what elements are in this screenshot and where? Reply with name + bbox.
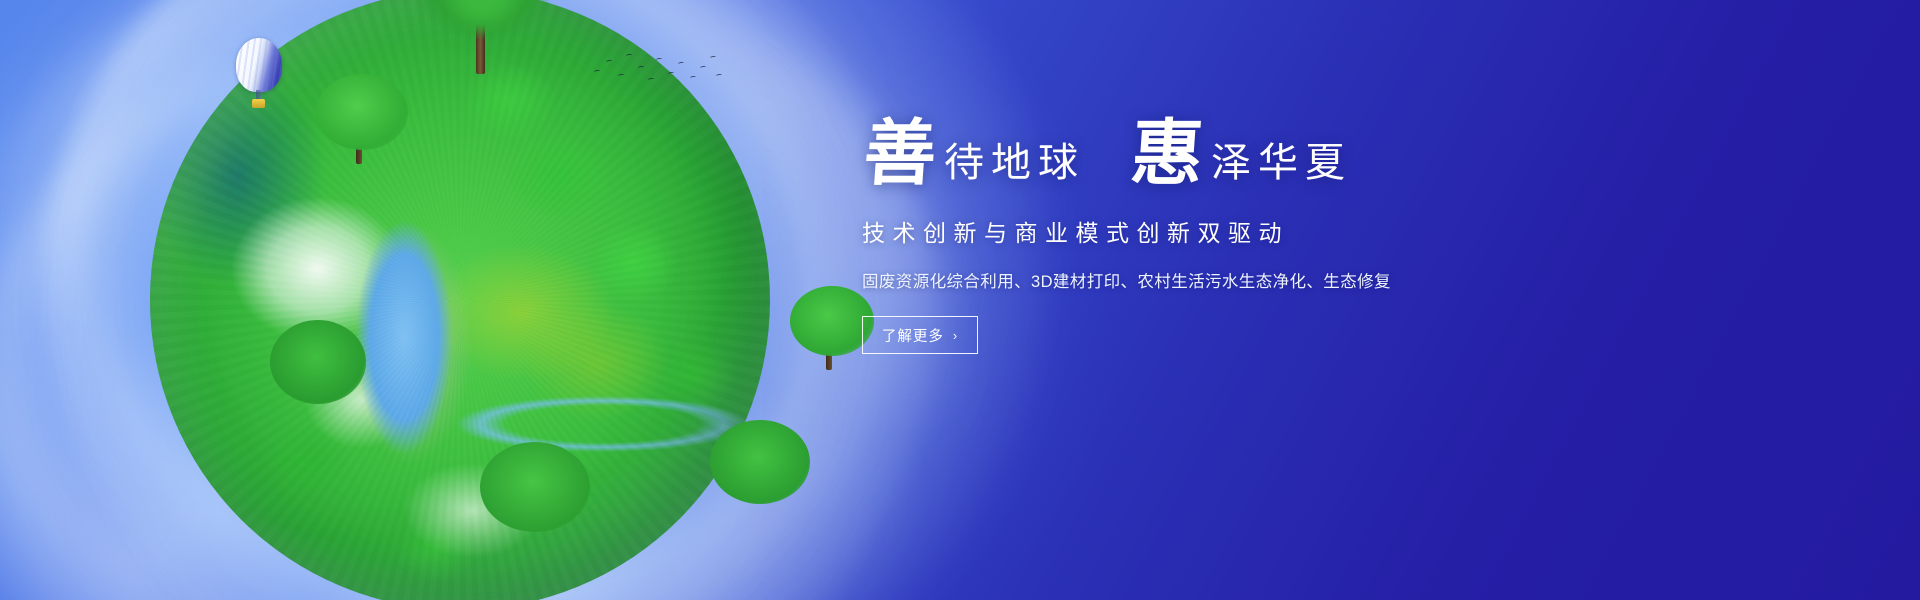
balloon-basket (252, 99, 265, 108)
learn-more-button[interactable]: 了解更多 › (862, 316, 978, 354)
hero-description: 固废资源化综合利用、3D建材打印、农村生活污水生态净化、生态修复 (862, 268, 1422, 292)
tree-trunk-icon (826, 320, 832, 370)
hero-banner: 善 待地球 惠 泽华夏 技术创新与商业模式创新双驱动 固废资源化综合利用、3D建… (0, 0, 1920, 600)
headline-accent-2: 惠 (1128, 118, 1205, 190)
bird-flock-icon (592, 48, 722, 90)
chevron-right-icon: › (953, 329, 958, 342)
page-title: 善 待地球 惠 泽华夏 (864, 118, 1422, 190)
headline-accent-1: 善 (861, 118, 938, 190)
hot-air-balloon-icon (236, 38, 282, 110)
balloon-envelope (236, 38, 282, 92)
learn-more-label: 了解更多 (882, 325, 944, 346)
headline-rest-2: 泽华夏 (1203, 143, 1352, 190)
headline-rest-1: 待地球 (936, 143, 1085, 190)
hero-subtitle: 技术创新与商业模式创新双驱动 (862, 214, 1422, 248)
hero-copy: 善 待地球 惠 泽华夏 技术创新与商业模式创新双驱动 固废资源化综合利用、3D建… (862, 118, 1422, 354)
